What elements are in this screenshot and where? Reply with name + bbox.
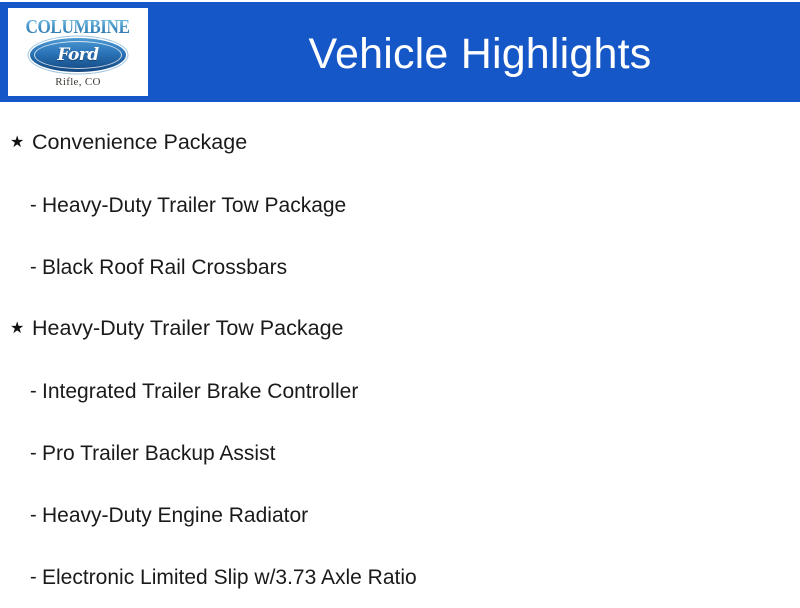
list-item-label: Electronic Limited Slip w/3.73 Axle Rati… bbox=[42, 567, 417, 588]
star-bullet-icon: ★ bbox=[10, 135, 32, 151]
vehicle-highlights-slide: COLUMBINE Ford Rifle, CO Vehicle Highlig… bbox=[0, 0, 800, 600]
dealer-location-text: Rifle, CO bbox=[55, 76, 100, 88]
highlights-list: ★ Convenience Package - Heavy-Duty Trail… bbox=[0, 102, 800, 600]
list-item: - Heavy-Duty Trailer Tow Package bbox=[0, 174, 800, 236]
list-item-label: Pro Trailer Backup Assist bbox=[42, 443, 275, 464]
list-item: - Integrated Trailer Brake Controller bbox=[0, 360, 800, 422]
dash-bullet-icon: - bbox=[30, 195, 42, 215]
list-item-label: Heavy-Duty Trailer Tow Package bbox=[32, 318, 343, 340]
dash-bullet-icon: - bbox=[30, 381, 42, 401]
ford-wordmark: Ford bbox=[57, 45, 98, 65]
list-item-label: Integrated Trailer Brake Controller bbox=[42, 381, 358, 402]
page-title: Vehicle Highlights bbox=[160, 4, 800, 104]
list-item: - Black Roof Rail Crossbars bbox=[0, 236, 800, 298]
list-item-label: Black Roof Rail Crossbars bbox=[42, 257, 287, 278]
dash-bullet-icon: - bbox=[30, 505, 42, 525]
list-item: ★ Convenience Package bbox=[0, 112, 800, 174]
dash-bullet-icon: - bbox=[30, 567, 42, 587]
list-item-label: Heavy-Duty Engine Radiator bbox=[42, 505, 308, 526]
list-item: ★ Heavy-Duty Trailer Tow Package bbox=[0, 298, 800, 360]
header-banner: COLUMBINE Ford Rifle, CO Vehicle Highlig… bbox=[0, 2, 800, 102]
ford-oval-icon: Ford bbox=[30, 38, 126, 72]
list-item-label: Convenience Package bbox=[32, 132, 247, 154]
star-bullet-icon: ★ bbox=[10, 321, 32, 337]
dealer-logo: COLUMBINE Ford Rifle, CO bbox=[8, 8, 148, 96]
list-item: - Electronic Limited Slip w/3.73 Axle Ra… bbox=[0, 546, 800, 608]
dash-bullet-icon: - bbox=[30, 257, 42, 277]
dealer-name-text: COLUMBINE bbox=[26, 17, 130, 37]
list-item: - Pro Trailer Backup Assist bbox=[0, 422, 800, 484]
list-item: - Heavy-Duty Engine Radiator bbox=[0, 484, 800, 546]
list-item-label: Heavy-Duty Trailer Tow Package bbox=[42, 195, 346, 216]
dash-bullet-icon: - bbox=[30, 443, 42, 463]
